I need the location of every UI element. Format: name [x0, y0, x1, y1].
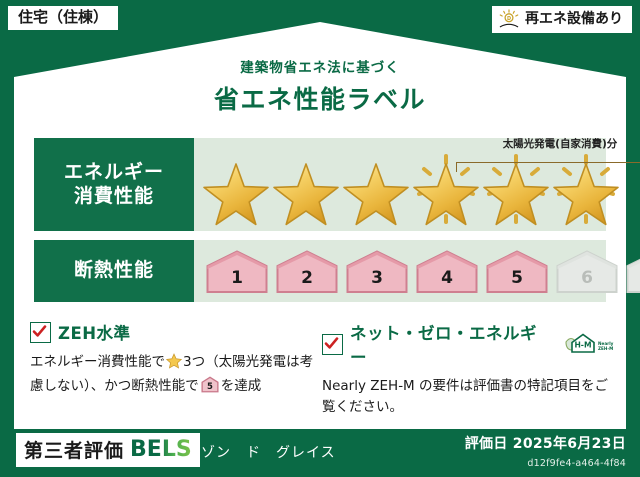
net-zero-header: ネット・ゼロ・エネルギー H-M Nearly ZEH-M [322, 320, 614, 368]
insulation-grades-band: 1234567 [194, 240, 606, 302]
insulation-grade-3: 3 [344, 249, 410, 295]
insulation-grade-4: 4 [414, 249, 480, 295]
house-type-tag: 住宅（住棟） [8, 6, 118, 30]
sun-icon: D [498, 9, 520, 29]
page-title: 建築物省エネ法に基づく 省エネ性能ラベル [0, 56, 640, 116]
insulation-grade-6: 6 [554, 249, 620, 295]
title-subtitle: 建築物省エネ法に基づく [0, 56, 640, 76]
zeh-standard-header: ZEH水準 [30, 320, 322, 344]
renewable-equipment-badge: D 再エネ設備あり [492, 6, 632, 33]
energy-label-line2: 消費性能 [74, 185, 154, 209]
label-root: 住宅（住棟） D 再エネ設備あり 建築物省エネ法に基づく 省エネ性能ラベル [0, 0, 640, 477]
energy-row-label: エネルギー 消費性能 [34, 138, 194, 231]
inline-grade-badge: 5 [201, 376, 219, 400]
insulation-grade-number: 2 [274, 249, 340, 295]
zeh-standard-body: エネルギー消費性能で3つ（太陽光発電は考慮しない）、かつ断熱性能で5を達成 [30, 352, 322, 400]
insulation-label-text: 断熱性能 [74, 259, 154, 283]
star-base [202, 150, 270, 228]
net-zero-title: ネット・ゼロ・エネルギー [350, 320, 553, 368]
bels-chip: 第三者評価 BELS [16, 433, 200, 467]
insulation-grade-number: 7 [624, 249, 640, 295]
insulation-grade-number: 4 [414, 249, 480, 295]
evaluation-date: 評価日 2025年6月23日 [465, 433, 626, 453]
solar-bracket [456, 162, 640, 172]
bels-en-label: BELS [130, 437, 192, 462]
energy-label-line1: エネルギー [64, 161, 164, 185]
insulation-grade-7: 7 [624, 249, 640, 295]
star-base [272, 150, 340, 228]
evaluation-id: d12f9fe4-a464-4f84 [527, 458, 626, 469]
zeh-body-pre: エネルギー消費性能で [30, 354, 165, 370]
property-name: メゾン ド グレイス [186, 442, 336, 462]
net-zero-energy-section: ネット・ゼロ・エネルギー H-M Nearly ZEH-M Nearly ZEH… [322, 320, 614, 418]
insulation-grade-1: 1 [204, 249, 270, 295]
net-zero-body: Nearly ZEH-M の要件は評価書の特記項目をご覧ください。 [322, 376, 614, 418]
check-icon [30, 322, 51, 343]
insulation-grade-number: 3 [344, 249, 410, 295]
solar-generation-note: 太陽光発電(自家消費)分 [452, 136, 640, 151]
insulation-grade-5: 5 [484, 249, 550, 295]
insulation-grade-number: 5 [484, 249, 550, 295]
star-base [342, 150, 410, 228]
star-icon [166, 353, 182, 376]
insulation-grade-number: 1 [204, 249, 270, 295]
star-rating [202, 148, 600, 229]
zeh-standard-title: ZEH水準 [58, 320, 131, 344]
title-main: 省エネ性能ラベル [0, 80, 640, 116]
insulation-performance-row: 断熱性能 1234567 [34, 240, 606, 302]
bels-jp-label: 第三者評価 [24, 436, 124, 463]
svg-text:ZEH-M: ZEH-M [598, 346, 613, 351]
zeh-body-post: を達成 [221, 378, 262, 394]
svg-text:H-M: H-M [574, 341, 591, 350]
check-icon [322, 334, 343, 355]
svg-text:D: D [507, 16, 511, 22]
footer: 第三者評価 BELS メゾン ド グレイス 評価日 2025年6月23日 d12… [0, 429, 640, 477]
insulation-grade-2: 2 [274, 249, 340, 295]
insulation-row-label: 断熱性能 [34, 240, 194, 302]
insulation-grade-scale: 1234567 [204, 246, 640, 298]
energy-performance-row: エネルギー 消費性能 太陽光発電(自家消費)分 [34, 138, 606, 231]
renewable-badge-label: 再エネ設備あり [525, 12, 623, 26]
energy-stars-band: 太陽光発電(自家消費)分 [194, 138, 606, 231]
insulation-grade-number: 6 [554, 249, 620, 295]
svg-text:5: 5 [207, 382, 213, 392]
certification-checks: ZEH水準 エネルギー消費性能で3つ（太陽光発電は考慮しない）、かつ断熱性能で5… [30, 320, 615, 418]
zeh-standard-section: ZEH水準 エネルギー消費性能で3つ（太陽光発電は考慮しない）、かつ断熱性能で5… [30, 320, 322, 418]
zeh-m-logo-icon: H-M Nearly ZEH-M [564, 331, 614, 357]
